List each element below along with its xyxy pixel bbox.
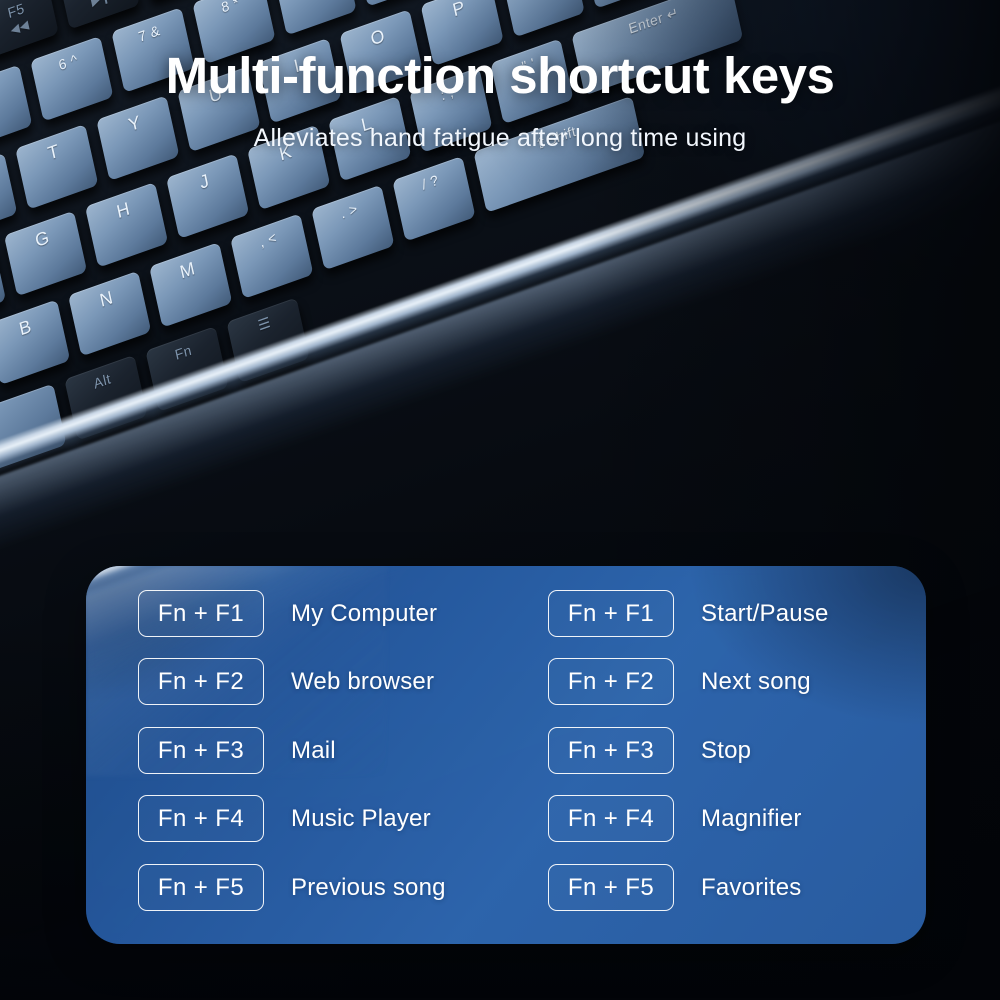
shortcut-action-label: Start/Pause [701,600,829,628]
shortcut-row: Fn + F4 Magnifier [548,795,802,842]
shortcut-row: Fn + F1 Start/Pause [548,590,829,637]
keycap-comma: , < [230,213,313,299]
shortcut-row: Fn + F2 Next song [548,658,811,705]
shortcut-action-label: Previous song [291,874,446,902]
shortcut-combo-badge: Fn + F2 [138,658,264,705]
shortcut-panel: Fn + F1 My Computer Fn + F2 Web browser … [86,566,926,944]
shortcut-row: Fn + F3 Stop [548,727,751,774]
shortcut-action-label: Web browser [291,668,434,696]
shortcut-row: Fn + F1 My Computer [138,590,437,637]
shortcut-row: Fn + F5 Previous song [138,864,446,911]
shortcut-row: Fn + F3 Mail [138,727,336,774]
shortcut-row: Fn + F4 Music Player [138,795,431,842]
keycap-f: F [0,239,6,325]
shortcut-action-label: My Computer [291,600,437,628]
shortcut-action-label: Stop [701,737,751,765]
keycap-m: M [149,242,232,328]
shortcut-combo-badge: Fn + F4 [138,795,264,842]
keycap-9: 9 ( [273,0,356,35]
promo-image-root: F2⌂ F3✉ F4♪ F5◀◀ F6▶❙ F7▶▶ F8■ F9◯ F10✦ … [0,0,1000,1000]
page-subtitle: Alleviates hand fatigue after long time … [0,124,1000,153]
shortcut-combo-badge: Fn + F1 [548,590,674,637]
shortcut-action-label: Mail [291,737,336,765]
shortcut-action-label: Magnifier [701,805,802,833]
keycap-h: H [85,182,168,268]
shortcut-action-label: Music Player [291,805,431,833]
shortcut-combo-badge: Fn + F2 [548,658,674,705]
shortcut-combo-badge: Fn + F1 [138,590,264,637]
shortcut-row: Fn + F2 Web browser [138,658,434,705]
shortcut-combo-badge: Fn + F3 [548,727,674,774]
page-title: Multi-function shortcut keys [0,46,1000,105]
shortcut-combo-badge: Fn + F5 [138,864,264,911]
keycap-b: B [0,299,70,385]
keycap-j: J [166,153,249,239]
shortcut-combo-badge: Fn + F5 [548,864,674,911]
keycap-g: G [4,211,87,297]
shortcut-row: Fn + F5 Favorites [548,864,802,911]
keycap-period: . > [311,185,394,271]
keycap-n: N [68,271,151,357]
shortcut-action-label: Next song [701,668,811,696]
shortcut-action-label: Favorites [701,874,802,902]
shortcut-combo-badge: Fn + F4 [548,795,674,842]
keycap-r: R [0,153,17,239]
shortcut-combo-badge: Fn + F3 [138,727,264,774]
